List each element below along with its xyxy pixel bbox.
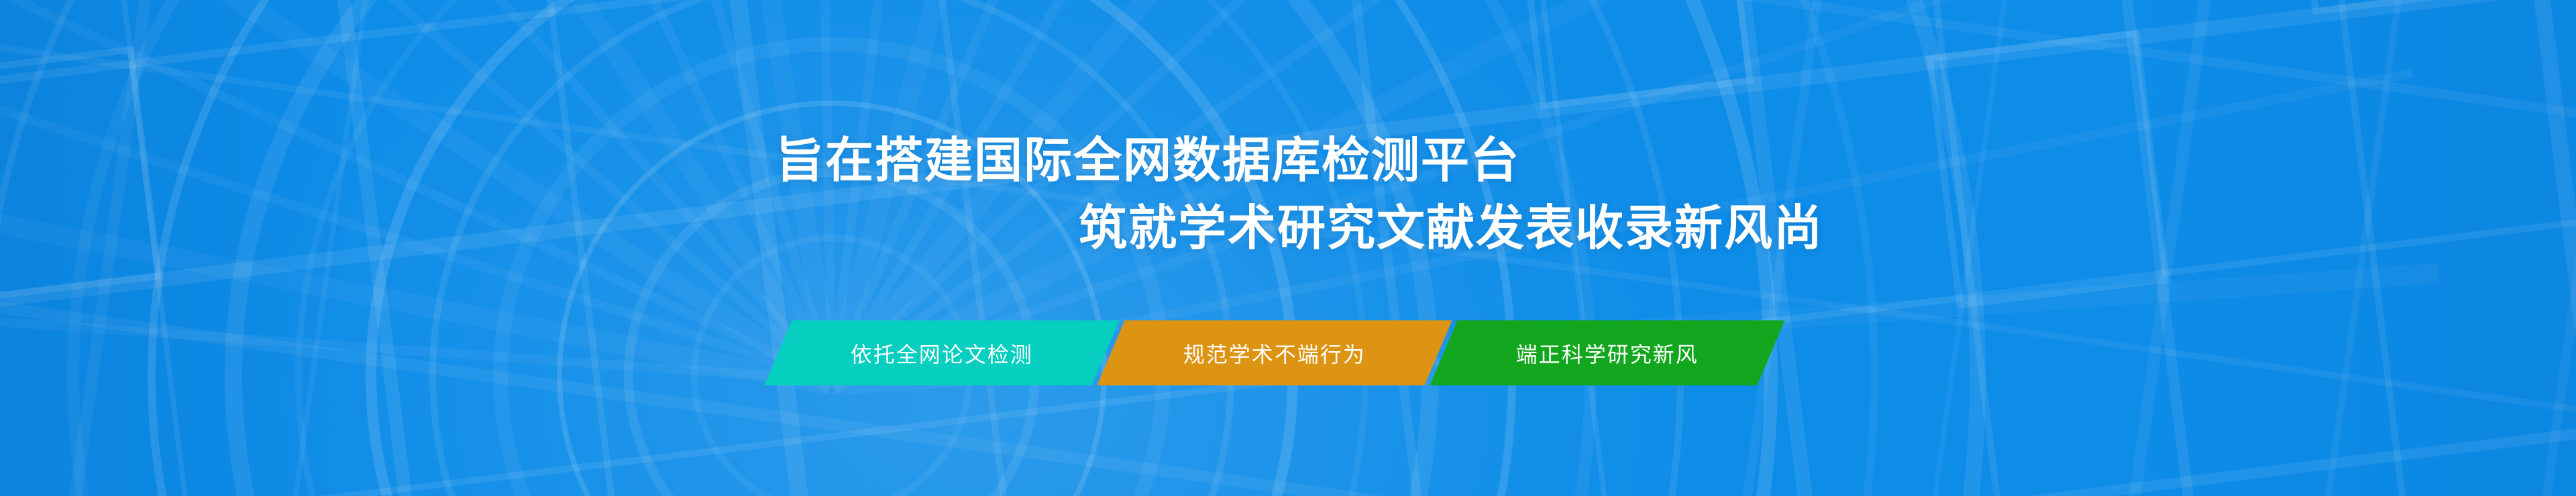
feature-tag-label: 依托全网论文检测 bbox=[851, 338, 1033, 369]
promo-banner: 旨在搭建国际全网数据库检测平台 筑就学术研究文献发表收录新风尚 依托全网论文检测… bbox=[0, 0, 2576, 496]
headline-line-2: 筑就学术研究文献发表收录新风尚 bbox=[1079, 204, 1823, 253]
headline-line-1: 旨在搭建国际全网数据库检测平台 bbox=[775, 137, 1520, 185]
feature-tag-label: 规范学术不端行为 bbox=[1183, 338, 1366, 369]
feature-tag-misconduct-regulation[interactable]: 规范学术不端行为 bbox=[1097, 320, 1452, 385]
feature-tag-research-ethics[interactable]: 端正科学研究新风 bbox=[1430, 320, 1784, 385]
feature-tag-strip: 依托全网论文检测 规范学术不端行为 端正科学研究新风 bbox=[778, 320, 1771, 385]
feature-tag-paper-detection[interactable]: 依托全网论文检测 bbox=[764, 320, 1119, 385]
feature-tag-label: 端正科学研究新风 bbox=[1516, 338, 1699, 369]
